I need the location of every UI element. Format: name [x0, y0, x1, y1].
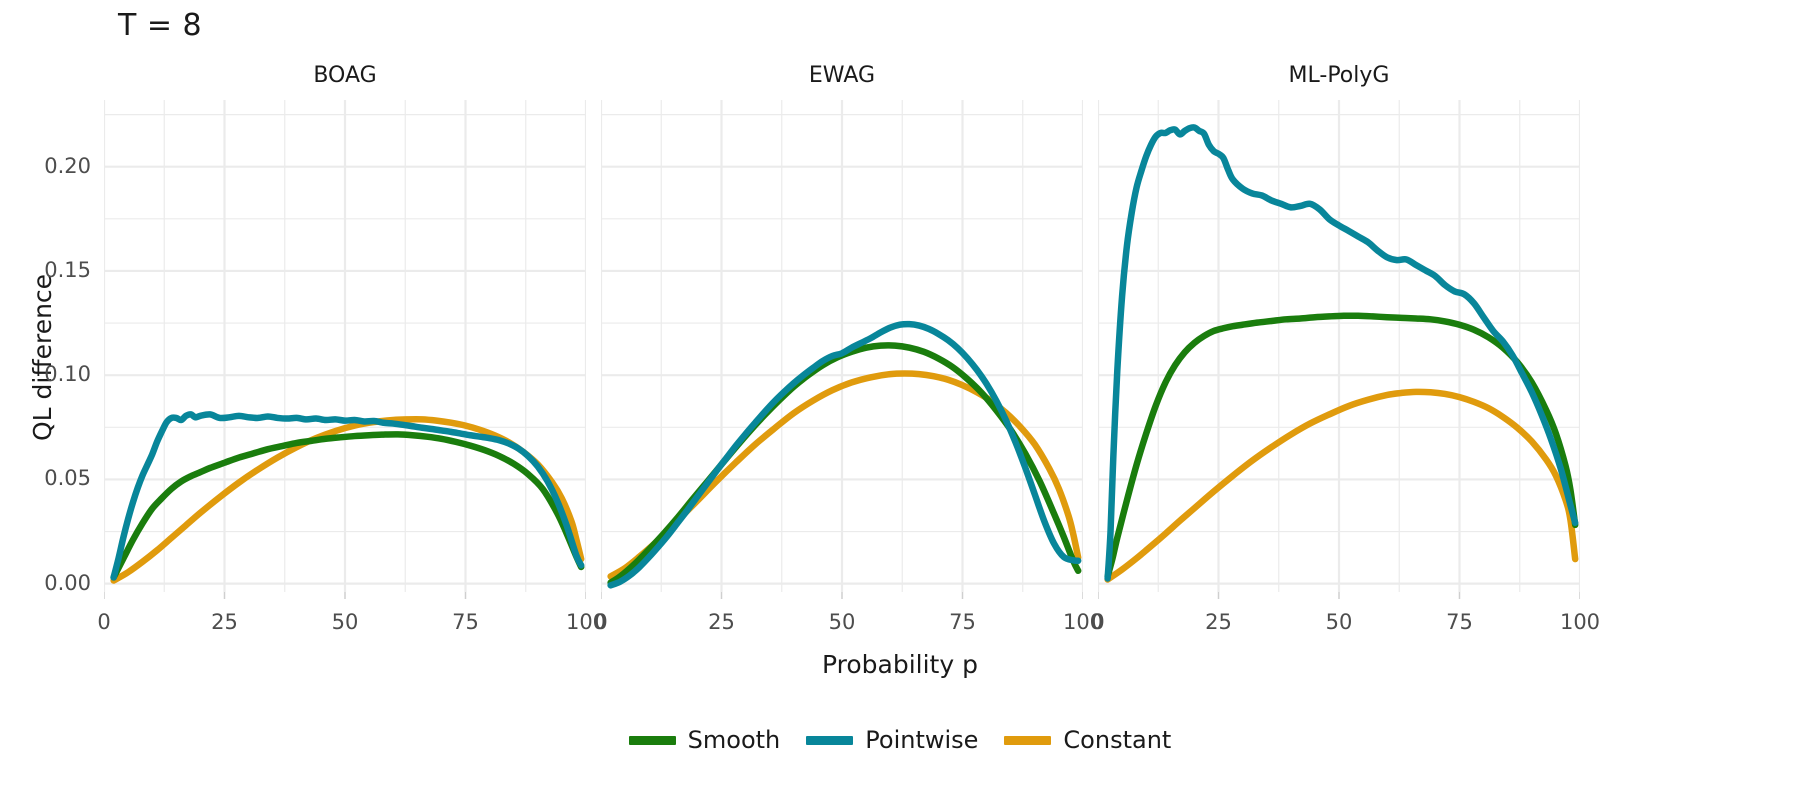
series-line-constant: [1108, 392, 1576, 580]
page-title: T = 8: [118, 8, 202, 43]
x-axis-tick-label: 50: [1299, 610, 1379, 634]
x-axis-tick-label: 100: [1540, 610, 1620, 634]
series-line-smooth: [1108, 316, 1576, 577]
x-axis-tick-label: 75: [923, 610, 1003, 634]
legend-item-smooth[interactable]: Smooth: [629, 726, 781, 754]
x-axis-tick-label: 25: [185, 610, 265, 634]
legend-item-pointwise[interactable]: Pointwise: [806, 726, 978, 754]
x-axis-tick-label: 25: [682, 610, 762, 634]
legend-swatch-icon: [629, 736, 676, 745]
x-axis-tick-label: 50: [305, 610, 385, 634]
x-axis-title: Probability p: [0, 650, 1800, 679]
panel-plot-ewag: [601, 100, 1083, 606]
panel-title-ml-polyg: ML-PolyG: [1098, 63, 1580, 88]
series-line-constant: [611, 374, 1079, 577]
y-axis-tick-label: 0.10: [0, 362, 91, 386]
chart-legend: SmoothPointwiseConstant: [0, 726, 1800, 754]
x-axis-tick-label: 25: [1179, 610, 1259, 634]
panel-title-ewag: EWAG: [601, 63, 1083, 88]
legend-item-constant[interactable]: Constant: [1004, 726, 1171, 754]
x-axis-tick-label: 0: [561, 610, 641, 634]
legend-swatch-icon: [1004, 736, 1051, 745]
y-axis-tick-label: 0.00: [0, 571, 91, 595]
y-axis-title: QL difference: [28, 274, 57, 441]
y-axis-tick-label: 0.05: [0, 466, 91, 490]
x-axis-tick-label: 75: [1420, 610, 1500, 634]
y-axis-tick-label: 0.20: [0, 154, 91, 178]
panel-plot-boag: [104, 100, 586, 606]
series-line-pointwise: [611, 324, 1079, 585]
x-axis-tick-label: 0: [1058, 610, 1138, 634]
series-line-smooth: [611, 345, 1079, 582]
legend-label: Smooth: [688, 726, 781, 754]
legend-label: Pointwise: [865, 726, 978, 754]
series-line-smooth: [114, 434, 582, 577]
panel-plot-ml-polyg: [1098, 100, 1580, 606]
x-axis-tick-label: 50: [802, 610, 882, 634]
y-axis-tick-label: 0.15: [0, 258, 91, 282]
legend-swatch-icon: [806, 736, 853, 745]
x-axis-tick-label: 75: [426, 610, 506, 634]
legend-label: Constant: [1063, 726, 1171, 754]
x-axis-tick-label: 0: [64, 610, 144, 634]
chart-root: T = 8 QL difference Probability p BOAG02…: [0, 0, 1800, 800]
panel-title-boag: BOAG: [104, 63, 586, 88]
